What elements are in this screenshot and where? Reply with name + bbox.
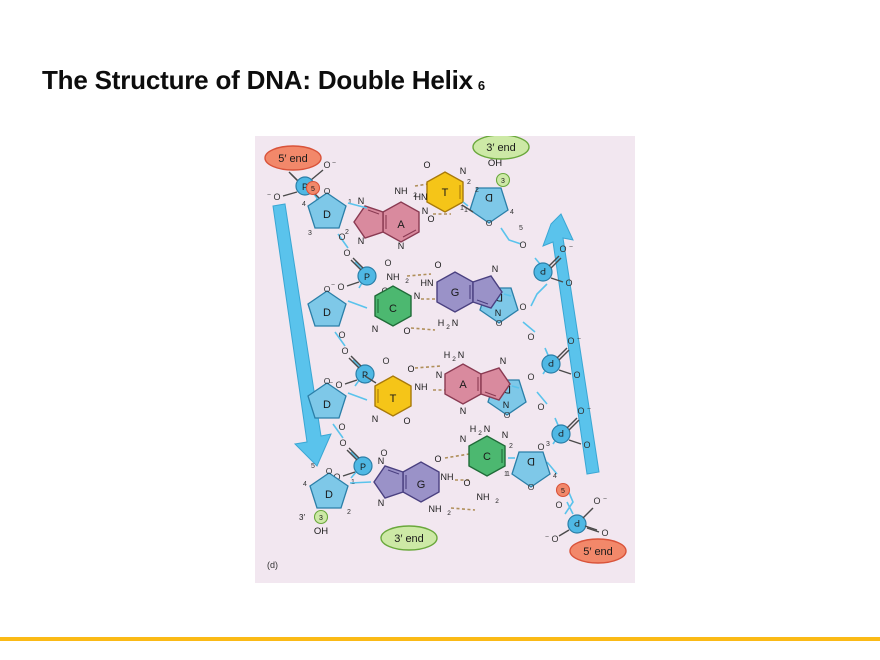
svg-text:N: N (452, 318, 459, 328)
svg-text:5: 5 (311, 186, 315, 193)
page-title: The Structure of DNA: Double Helix6 (42, 65, 485, 96)
svg-text:O: O (565, 278, 572, 288)
svg-text:O: O (555, 500, 562, 510)
svg-text:3: 3 (308, 230, 312, 237)
svg-text:H: H (444, 350, 451, 360)
svg-text:N: N (500, 356, 507, 366)
svg-text:O: O (537, 402, 544, 412)
end-label-5prime-top-left: 5′ end (265, 146, 321, 170)
svg-text:T: T (442, 187, 449, 199)
svg-text:T: T (390, 393, 397, 405)
svg-text:H: H (438, 318, 445, 328)
page-title-superscript: 6 (478, 78, 485, 93)
svg-text:NH: NH (415, 382, 428, 392)
svg-text:O: O (528, 482, 535, 492)
svg-text:D: D (527, 455, 535, 467)
svg-text:N: N (398, 241, 405, 251)
svg-text:1: 1 (460, 205, 464, 212)
svg-text:N: N (372, 324, 379, 334)
svg-text:P: P (364, 272, 370, 282)
svg-text:3: 3 (501, 178, 505, 185)
slide-canvas: The Structure of DNA: Double Helix6 (0, 0, 880, 660)
svg-text:A: A (459, 379, 467, 391)
svg-text:–: – (569, 244, 573, 250)
svg-text:D: D (485, 191, 493, 203)
svg-text:O: O (384, 258, 391, 268)
svg-text:2: 2 (467, 179, 471, 186)
end-label-5prime-bottom-right: 5′ end (570, 539, 626, 563)
svg-text:O: O (486, 218, 493, 228)
end-label-3prime-top-right: 3′ end (473, 136, 529, 159)
svg-text:O: O (504, 410, 511, 420)
svg-text:O: O (593, 496, 600, 506)
svg-text:N: N (378, 456, 385, 466)
svg-text:O: O (338, 422, 345, 432)
svg-text:O: O (338, 330, 345, 340)
svg-text:O: O (337, 282, 344, 292)
svg-text:N: N (495, 308, 502, 318)
end-label-text: 5′ end (278, 153, 308, 165)
svg-text:3: 3 (546, 441, 550, 448)
svg-text:O: O (577, 406, 584, 416)
end-label-text: 3′ end (394, 533, 424, 545)
svg-text:N: N (358, 236, 365, 246)
svg-text:N: N (502, 430, 509, 440)
svg-text:2: 2 (405, 278, 409, 285)
end-label-3prime-bottom-left: 3′ end (381, 526, 437, 550)
svg-text:–: – (577, 336, 581, 342)
svg-text:G: G (417, 479, 426, 491)
svg-text:G: G (451, 287, 460, 299)
svg-text:O: O (273, 192, 280, 202)
dna-double-helix-diagram: P O O – O – O D 1 2 3 4 5 O O (255, 136, 635, 583)
svg-text:–: – (603, 496, 607, 502)
svg-text:P: P (574, 518, 580, 528)
svg-text:4: 4 (302, 201, 306, 208)
base-cytosine-row4-right: C 1 N N H 2 N O NH 2 (460, 424, 509, 505)
svg-text:O: O (434, 260, 441, 270)
svg-text:NH: NH (387, 272, 400, 282)
svg-text:2: 2 (447, 510, 451, 517)
svg-text:–: – (267, 192, 271, 198)
base-guanine-row4: G N N O NH NH 2 (374, 454, 454, 517)
svg-text:D: D (323, 209, 331, 221)
svg-text:H: H (470, 424, 477, 434)
svg-text:O: O (407, 364, 414, 374)
svg-text:N: N (484, 424, 491, 434)
svg-text:P: P (540, 266, 546, 276)
left-phosphate-2: P O O – O O (331, 248, 391, 296)
svg-text:O: O (324, 284, 331, 294)
svg-text:O: O (382, 356, 389, 366)
svg-text:O: O (434, 454, 441, 464)
svg-text:O: O (403, 416, 410, 426)
svg-text:2: 2 (495, 498, 499, 505)
svg-text:–: – (332, 160, 336, 166)
svg-text:O: O (324, 376, 331, 386)
svg-text:O: O (519, 302, 526, 312)
svg-text:C: C (483, 451, 491, 463)
svg-text:NH: NH (429, 504, 442, 514)
glycosidic-bond-4 (350, 482, 371, 483)
left-strand-arrow (273, 204, 331, 466)
svg-text:O: O (338, 232, 345, 242)
base-cytosine-row2: C NH 2 N N O (372, 272, 421, 336)
svg-text:O: O (496, 318, 503, 328)
svg-text:5: 5 (519, 225, 523, 232)
right-terminal-phosphate: P O – O O – O (545, 496, 608, 544)
svg-text:O: O (323, 160, 330, 170)
svg-text:N: N (460, 434, 467, 444)
svg-text:O: O (339, 438, 346, 448)
svg-text:5: 5 (561, 488, 565, 495)
svg-text:O: O (427, 214, 434, 224)
svg-text:N: N (372, 414, 379, 424)
svg-text:O: O (527, 332, 534, 342)
svg-text:5: 5 (311, 463, 315, 470)
svg-text:P: P (548, 358, 554, 368)
h-bond-row2-a (407, 274, 431, 276)
page-title-text: The Structure of DNA: Double Helix (42, 65, 473, 95)
h-bond-row4-c (451, 508, 475, 510)
left-sugar-2: D O O (308, 284, 346, 340)
three-prime-mark-left: 3′ (299, 513, 305, 522)
svg-text:N: N (378, 498, 385, 508)
glycosidic-bond-3 (348, 393, 367, 400)
h-bond-row2-c (411, 328, 435, 330)
svg-text:A: A (397, 219, 405, 231)
svg-text:N: N (358, 196, 365, 206)
svg-text:O: O (551, 534, 558, 544)
svg-text:4: 4 (553, 473, 557, 480)
slide-accent-bar (0, 637, 880, 641)
svg-text:O: O (463, 478, 470, 488)
svg-text:–: – (587, 406, 591, 412)
svg-text:NH: NH (395, 186, 408, 196)
end-label-text: 3′ end (486, 142, 516, 154)
svg-text:O: O (601, 528, 608, 538)
svg-text:O: O (343, 248, 350, 258)
svg-text:O: O (324, 186, 331, 196)
svg-text:NH: NH (477, 492, 490, 502)
svg-text:O: O (403, 326, 410, 336)
svg-text:C: C (389, 303, 397, 315)
svg-text:N: N (492, 264, 499, 274)
left-sugar-1: D 1 2 3 4 5 O O (302, 182, 352, 243)
right-sugar-1: D O 1 2 4 5 3 OH (464, 158, 523, 232)
svg-text:–: – (545, 534, 549, 540)
svg-text:NH: NH (441, 472, 454, 482)
svg-text:N: N (503, 400, 510, 410)
svg-text:–: – (331, 282, 335, 288)
svg-text:O: O (519, 240, 526, 250)
svg-text:N: N (436, 370, 443, 380)
svg-text:D: D (323, 307, 331, 319)
svg-text:O: O (423, 160, 430, 170)
svg-text:O: O (341, 346, 348, 356)
svg-text:N: N (460, 166, 467, 176)
svg-text:2: 2 (347, 509, 351, 516)
svg-text:O: O (326, 466, 333, 476)
svg-text:1: 1 (504, 471, 508, 478)
glycosidic-bond-2 (348, 301, 367, 308)
svg-text:3: 3 (319, 515, 323, 522)
svg-text:O: O (537, 442, 544, 452)
svg-text:O: O (527, 372, 534, 382)
svg-text:2: 2 (345, 229, 349, 236)
svg-text:HN: HN (421, 278, 434, 288)
svg-text:P: P (558, 428, 564, 438)
svg-text:O: O (567, 336, 574, 346)
svg-text:O: O (335, 380, 342, 390)
svg-text:P: P (360, 462, 366, 472)
dna-figure-panel: P O O – O – O D 1 2 3 4 5 O O (255, 136, 635, 583)
svg-text:HN: HN (415, 192, 428, 202)
svg-text:2: 2 (452, 356, 456, 363)
svg-text:4: 4 (510, 209, 514, 216)
svg-text:N: N (460, 406, 467, 416)
svg-text:O: O (583, 440, 590, 450)
svg-text:2: 2 (509, 443, 513, 450)
svg-text:D: D (323, 399, 331, 411)
svg-text:P: P (362, 370, 368, 380)
svg-text:O: O (573, 370, 580, 380)
terminal-oh-left: OH (314, 526, 328, 537)
svg-text:2: 2 (475, 187, 479, 194)
svg-text:D: D (325, 489, 333, 501)
svg-text:2: 2 (478, 430, 482, 437)
svg-text:O: O (559, 244, 566, 254)
figure-caption: (d) (267, 560, 278, 570)
h-bond-row4-a (445, 454, 469, 458)
end-label-text: 5′ end (583, 546, 613, 558)
svg-text:2: 2 (446, 324, 450, 331)
h-bond-row3-a (415, 366, 441, 368)
svg-text:N: N (458, 350, 465, 360)
base-guanine-row2-right: G N N O HN H 2 N (421, 260, 503, 331)
svg-text:N: N (414, 291, 421, 301)
svg-text:4: 4 (303, 481, 307, 488)
